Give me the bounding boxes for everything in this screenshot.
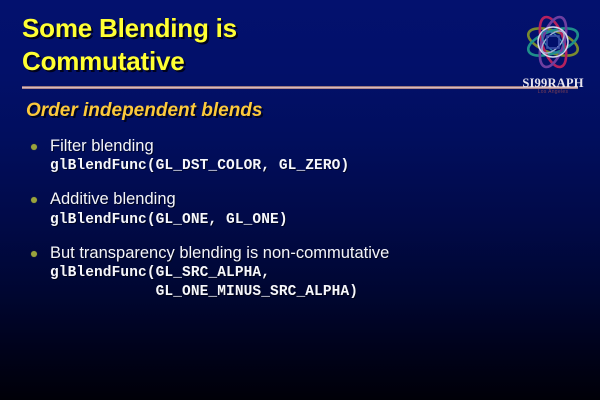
title-line-1: Some Blending is (22, 12, 482, 45)
bullet-dot-icon (31, 251, 37, 257)
code-line: glBlendFunc(GL_SRC_ALPHA, (50, 264, 578, 283)
page-title: Some Blending is Commutative (22, 12, 482, 79)
list-item: But transparency blending is non-commuta… (28, 243, 578, 303)
siggraph-logo: SI99RAPH Los Angeles (508, 2, 598, 96)
title-line-2: Commutative (22, 45, 482, 78)
section-subtitle: Order independent blends (26, 100, 262, 122)
bullet-label: But transparency blending is non-commuta… (50, 243, 578, 264)
bullet-dot-icon (31, 197, 37, 203)
bullet-dot-icon (31, 144, 37, 150)
list-item: Filter blending glBlendFunc(GL_DST_COLOR… (28, 136, 578, 176)
bullet-list: Filter blending glBlendFunc(GL_DST_COLOR… (28, 136, 578, 302)
code-line: glBlendFunc(GL_DST_COLOR, GL_ZERO) (50, 157, 578, 176)
header-divider-rule (22, 86, 578, 89)
bullet-label: Filter blending (50, 136, 578, 157)
list-item: Additive blending glBlendFunc(GL_ONE, GL… (28, 189, 578, 229)
code-line-continuation: GL_ONE_MINUS_SRC_ALPHA) (50, 283, 578, 302)
logo-sublabel: Los Angeles (508, 89, 598, 95)
slide-canvas: Some Blending is Commutative SI99RAPH Lo… (0, 0, 600, 400)
siggraph-rings-icon (508, 2, 598, 82)
code-line: glBlendFunc(GL_ONE, GL_ONE) (50, 211, 578, 230)
bullet-label: Additive blending (50, 189, 578, 210)
